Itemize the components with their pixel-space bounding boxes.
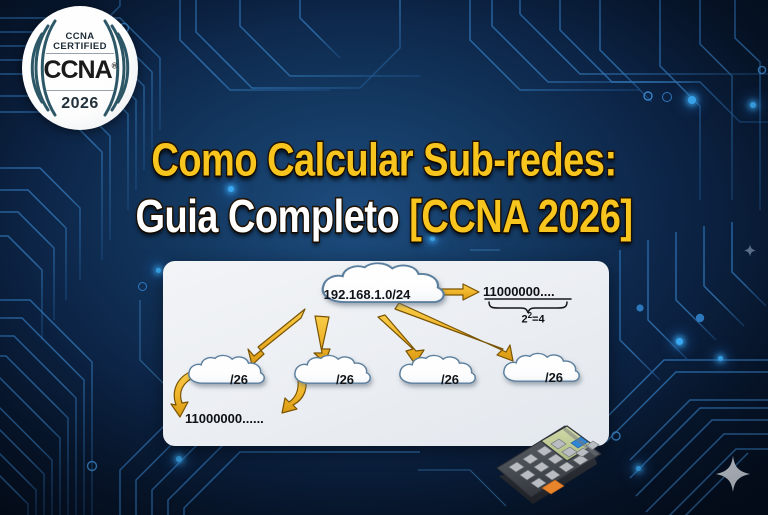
title-line-2-yellow: [CCNA 2026] [409, 192, 632, 243]
power-equals: =4 [532, 314, 545, 326]
glow-dot [676, 338, 683, 345]
badge-main-text: CCNA® [22, 56, 138, 85]
subnet-node-label-1: /26 [204, 372, 274, 387]
badge-main-label: CCNA [43, 56, 111, 84]
page-title: Como Calcular Sub-redes: Guia Completo [… [0, 133, 768, 245]
ccna-certified-badge: CCNA CERTIFIED CCNA® 2026 [22, 6, 138, 130]
binary-annotation-bottom-left: 11000000...... [185, 411, 365, 426]
title-line-2: Guia Completo [CCNA 2026] [0, 189, 768, 245]
glow-dot [688, 96, 696, 104]
sparkle-star-small [744, 244, 756, 257]
glow-dot [718, 356, 723, 361]
binary-annotation-top-right: 11000000.... [483, 284, 603, 299]
arrow-group [171, 284, 513, 417]
sparkle-star [716, 456, 750, 492]
title-line-2-white: Guia Completo [135, 192, 409, 243]
badge-registered-mark: ® [112, 62, 117, 71]
power-annotation: 22=4 [493, 311, 573, 326]
badge-divider-bottom [46, 90, 114, 91]
glow-dot [156, 268, 161, 273]
trace-pad-ring [662, 92, 672, 102]
badge-line-2: CERTIFIED [22, 41, 138, 52]
calculator-illustration [489, 418, 611, 510]
glow-dot [636, 466, 641, 471]
subnet-node-label-4: /26 [519, 370, 589, 385]
title-line-1: Como Calcular Sub-redes: [0, 133, 768, 189]
badge-year: 2026 [22, 95, 138, 113]
badge-divider-top [46, 53, 114, 54]
glow-dot [750, 102, 756, 108]
glow-dot [176, 456, 182, 462]
subnet-node-label-2: /26 [310, 372, 380, 387]
subnet-node-label-3: /26 [415, 372, 485, 387]
thumbnail-canvas: CCNA CERTIFIED CCNA® 2026 Como Calcular … [0, 0, 768, 515]
